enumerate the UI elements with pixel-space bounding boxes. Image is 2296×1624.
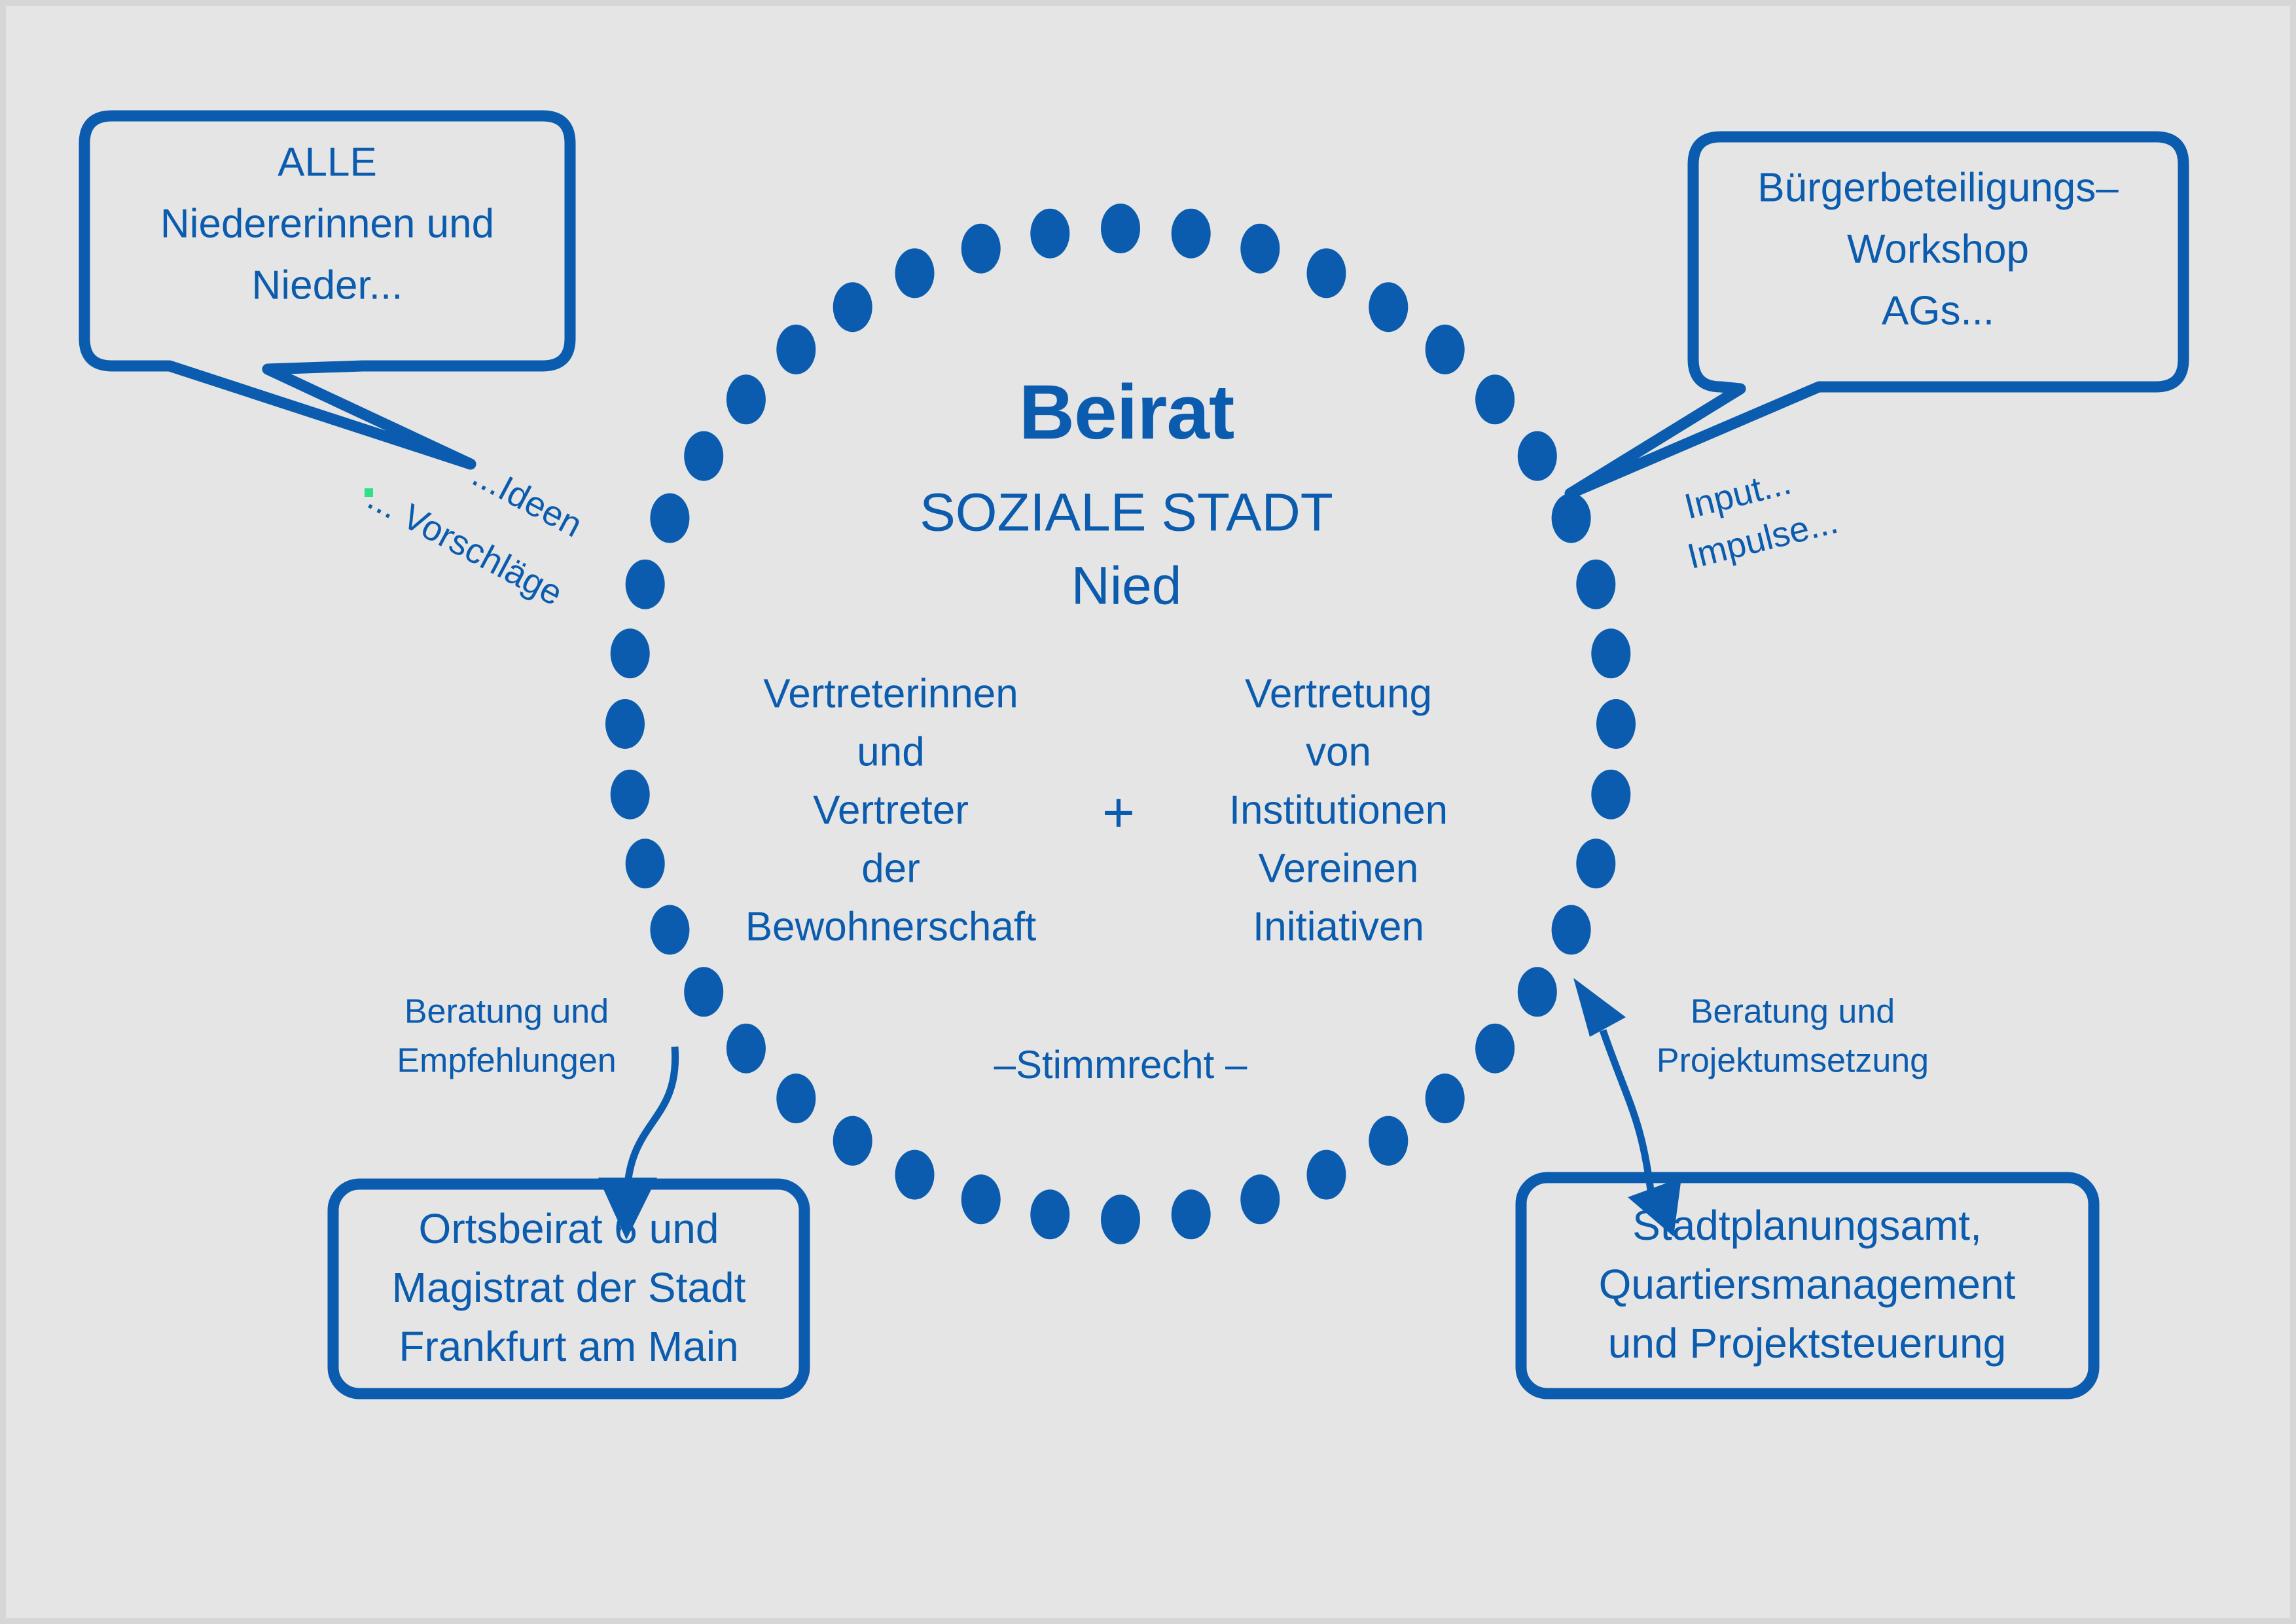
left-column-line-5: Bewohnerschaft <box>745 904 1037 949</box>
bubble-top-right-line-3: AGs... <box>1882 288 1994 333</box>
diagram-page: ALLE Niedererinnen und Nieder... Bürgerb… <box>0 0 2296 1624</box>
right-column-line-3: Institutionen <box>1229 787 1448 833</box>
left-column-line-4: der <box>861 846 920 891</box>
left-column-line-2: und <box>857 729 924 774</box>
text-layer: ALLE Niedererinnen und Nieder... Bürgerb… <box>6 6 2290 1618</box>
stimmrecht-note: –Stimmrecht – <box>994 1043 1247 1087</box>
bubble-top-right-line-2: Workshop <box>1847 226 2029 272</box>
right-column-line-1: Vertretung <box>1245 671 1432 716</box>
right-column-line-4: Vereinen <box>1259 846 1419 891</box>
center-title: Beirat <box>1019 369 1234 456</box>
right-column-line-5: Initiativen <box>1253 904 1424 949</box>
diagram-canvas: ALLE Niedererinnen und Nieder... Bürgerb… <box>6 6 2290 1618</box>
label-ideen: ...Ideen <box>466 455 588 545</box>
label-beratung-empfehlungen-1: Beratung und <box>404 993 609 1031</box>
box-ortsbeirat-line-2: Magistrat der Stadt <box>392 1264 746 1311</box>
plus-separator: + <box>1102 782 1135 844</box>
box-ortsbeirat-line-1: Ortsbeirat 6 und <box>419 1205 719 1252</box>
box-stadtplanungsamt-line-2: Quartiersmanagement <box>1599 1261 2016 1308</box>
box-ortsbeirat-line-3: Frankfurt am Main <box>399 1323 738 1370</box>
right-column-line-2: von <box>1306 729 1371 774</box>
center-subtitle: SOZIALE STADT <box>920 483 1333 543</box>
label-beratung-projektumsetzung-2: Projektumsetzung <box>1657 1042 1929 1080</box>
box-stadtplanungsamt-line-1: Stadtplanungsamt, <box>1632 1202 1982 1249</box>
left-column-line-1: Vertreterinnen <box>763 671 1018 716</box>
bubble-top-left-line-1: ALLE <box>278 139 377 185</box>
center-subtitle-2: Nied <box>1071 556 1182 616</box>
bubble-top-left-line-3: Nieder... <box>252 262 403 308</box>
bubble-top-left-line-2: Niedererinnen und <box>160 201 494 246</box>
label-beratung-projektumsetzung-1: Beratung und <box>1691 993 1895 1031</box>
box-stadtplanungsamt-line-3: und Projektsteuerung <box>1608 1320 2006 1367</box>
label-beratung-empfehlungen-2: Empfehlungen <box>397 1042 616 1080</box>
bubble-top-right-line-1: Bürgerbeteiligungs– <box>1757 165 2119 210</box>
left-column-line-3: Vertreter <box>813 787 969 833</box>
